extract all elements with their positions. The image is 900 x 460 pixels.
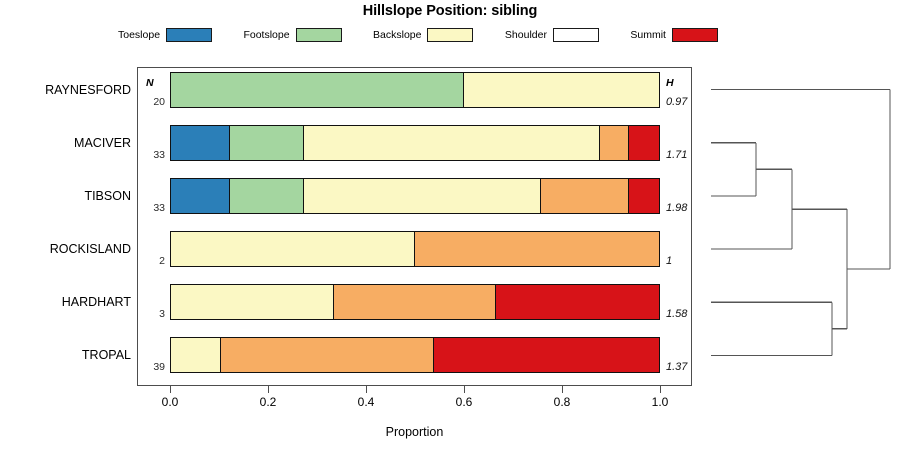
x-axis: 0.00.20.40.60.81.0 bbox=[137, 386, 692, 426]
y-axis-label: TIBSON bbox=[0, 189, 131, 203]
bar-segment bbox=[600, 126, 629, 160]
legend-entry: Toeslope bbox=[118, 28, 212, 42]
row-n-value: 3 bbox=[137, 308, 165, 320]
legend: ToeslopeFootslopeBackslopeShoulderSummit bbox=[118, 26, 718, 43]
x-axis-tick bbox=[660, 386, 661, 393]
bar-segment bbox=[496, 285, 659, 319]
bar-segment bbox=[464, 73, 659, 107]
stacked-bar bbox=[170, 337, 660, 373]
x-axis-tick-label: 0.8 bbox=[542, 395, 582, 409]
dendrogram-svg bbox=[692, 67, 900, 386]
stacked-bars-layer: N H 200.97331.71331.982131.58391.37 bbox=[137, 67, 692, 386]
legend-swatch bbox=[296, 28, 342, 42]
stacked-bar bbox=[170, 231, 660, 267]
y-axis-label: HARDHART bbox=[0, 295, 131, 309]
bar-segment bbox=[230, 126, 304, 160]
row-n-value: 33 bbox=[137, 149, 165, 161]
legend-label: Footslope bbox=[243, 29, 289, 41]
row-n-value: 2 bbox=[137, 255, 165, 267]
bar-segment bbox=[415, 232, 659, 266]
stacked-bar bbox=[170, 72, 660, 108]
legend-swatch bbox=[166, 28, 212, 42]
legend-entry: Summit bbox=[630, 28, 718, 42]
legend-entry: Backslope bbox=[373, 28, 473, 42]
x-axis-tick bbox=[562, 386, 563, 393]
y-axis-label: RAYNESFORD bbox=[0, 83, 131, 97]
row-n-value: 33 bbox=[137, 202, 165, 214]
x-axis-tick-label: 0.4 bbox=[346, 395, 386, 409]
x-axis-tick-label: 0.0 bbox=[150, 395, 190, 409]
stacked-bar bbox=[170, 178, 660, 214]
y-axis-label: MACIVER bbox=[0, 136, 131, 150]
legend-label: Toeslope bbox=[118, 29, 160, 41]
bar-segment bbox=[434, 338, 659, 372]
chart-title: Hillslope Position: sibling bbox=[0, 3, 900, 19]
legend-label: Shoulder bbox=[505, 29, 547, 41]
legend-label: Summit bbox=[630, 29, 666, 41]
legend-entry: Footslope bbox=[243, 28, 341, 42]
bar-segment bbox=[541, 179, 629, 213]
bar-row: 331.98 bbox=[137, 178, 692, 214]
stacked-bar bbox=[170, 284, 660, 320]
bar-segment bbox=[171, 73, 464, 107]
x-axis-tick-label: 0.6 bbox=[444, 395, 484, 409]
bar-segment bbox=[171, 179, 230, 213]
legend-swatch bbox=[672, 28, 718, 42]
chart-root: Hillslope Position: sibling ToeslopeFoot… bbox=[0, 0, 900, 460]
bar-segment bbox=[171, 338, 221, 372]
x-axis-tick bbox=[268, 386, 269, 393]
legend-label: Backslope bbox=[373, 29, 421, 41]
legend-swatch bbox=[427, 28, 473, 42]
bar-row: 391.37 bbox=[137, 337, 692, 373]
legend-swatch bbox=[553, 28, 599, 42]
bar-segment bbox=[230, 179, 304, 213]
bar-row: 31.58 bbox=[137, 284, 692, 320]
bar-segment bbox=[171, 285, 334, 319]
y-axis-label: TROPAL bbox=[0, 348, 131, 362]
x-axis-tick-label: 1.0 bbox=[640, 395, 680, 409]
y-axis-category-labels: RAYNESFORDMACIVERTIBSONROCKISLANDHARDHAR… bbox=[0, 67, 131, 386]
bar-segment bbox=[171, 232, 415, 266]
legend-entry: Shoulder bbox=[505, 28, 599, 42]
bar-row: 200.97 bbox=[137, 72, 692, 108]
stacked-bar bbox=[170, 125, 660, 161]
bar-row: 331.71 bbox=[137, 125, 692, 161]
bar-row: 21 bbox=[137, 231, 692, 267]
x-axis-tick bbox=[170, 386, 171, 393]
x-axis-title: Proportion bbox=[137, 425, 692, 439]
bar-segment bbox=[304, 179, 541, 213]
bar-segment bbox=[334, 285, 497, 319]
x-axis-tick-label: 0.2 bbox=[248, 395, 288, 409]
bar-segment bbox=[171, 126, 230, 160]
x-axis-tick bbox=[366, 386, 367, 393]
dendrogram bbox=[692, 67, 900, 386]
x-axis-tick bbox=[464, 386, 465, 393]
bar-segment bbox=[629, 126, 659, 160]
row-n-value: 20 bbox=[137, 96, 165, 108]
row-n-value: 39 bbox=[137, 361, 165, 373]
bar-segment bbox=[221, 338, 433, 372]
bar-segment bbox=[304, 126, 600, 160]
bar-segment bbox=[629, 179, 659, 213]
y-axis-label: ROCKISLAND bbox=[0, 242, 131, 256]
